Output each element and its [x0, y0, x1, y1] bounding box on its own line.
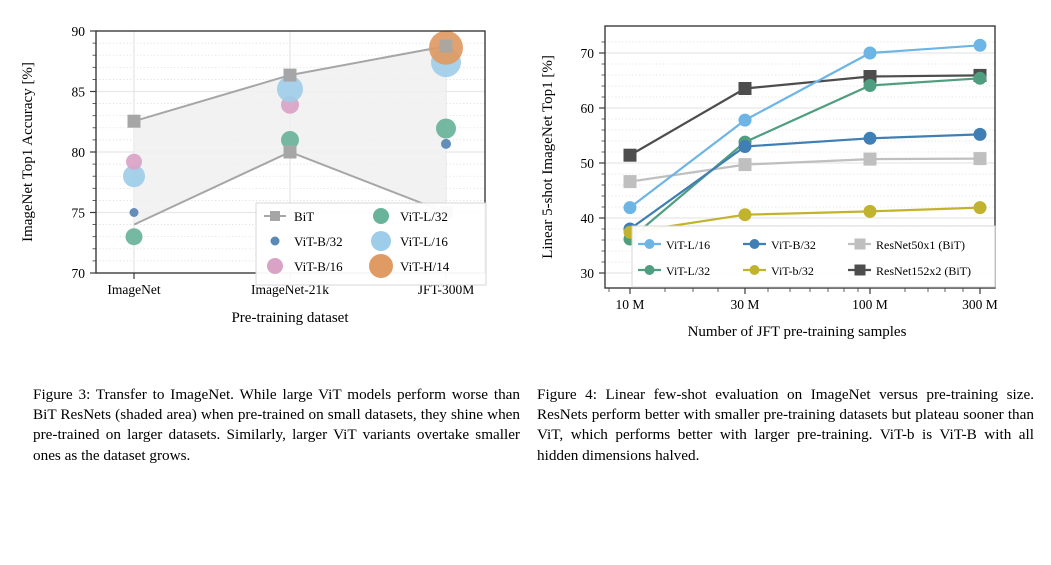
fig4-x-ticks-major: [630, 288, 980, 294]
fig4-x-axis-label: Number of JFT pre-training samples: [688, 324, 907, 340]
fig3-legend-label-vit-l16: ViT-L/16: [400, 234, 448, 249]
fig4-y-axis-label: Linear 5-shot ImageNet Top1 [%]: [540, 55, 556, 259]
fig4-ytick-60: 60: [581, 101, 595, 116]
point-vit-b16-imagenet: [126, 154, 142, 170]
fig3-y-axis-label: ImageNet Top1 Accuracy [%]: [20, 62, 36, 242]
point-bit-lower-in21k: [284, 146, 297, 159]
point-vit-b32-imagenet: [130, 208, 139, 217]
fig3-legend-label-vit-l32: ViT-L/32: [400, 209, 448, 224]
fig4-xtick-10m: 10 M: [616, 297, 645, 312]
fig3-legend-item-vit-l32[interactable]: ViT-L/32: [373, 208, 448, 224]
fig3-ytick-75: 75: [72, 206, 86, 221]
point-bit-upper-in21k: [284, 69, 297, 82]
fig3-legend-box: [256, 203, 486, 285]
fig3-ytick-70: 70: [72, 266, 86, 281]
fig3-legend-label-vit-h14: ViT-H/14: [400, 259, 450, 274]
fig4-legend-label-resnet152x2: ResNet152x2 (BiT): [876, 264, 971, 278]
fig4-legend-label-vit-l32: ViT-L/32: [666, 264, 710, 278]
fig3-legend-item-vit-b16[interactable]: ViT-B/16: [267, 258, 343, 274]
fig4-series: [630, 45, 980, 239]
point-vit-l32-jft: [436, 119, 456, 139]
fig4-legend-label-vit-l16: ViT-L/16: [666, 238, 710, 252]
fig4-ytick-40: 40: [581, 211, 595, 226]
figure-3-caption: Figure 3: Transfer to ImageNet. While la…: [33, 385, 520, 466]
point-bit-upper-jft: [440, 40, 453, 53]
fig3-ytick-80: 80: [72, 145, 86, 160]
fig3-legend-label-bit: BiT: [294, 209, 314, 224]
series-line-vit-b32: [630, 134, 980, 229]
fig4-legend-label-resnet50x1: ResNet50x1 (BiT): [876, 238, 965, 252]
series-line-resnet50x1: [630, 159, 980, 182]
fig4-xtick-100m: 100 M: [852, 297, 888, 312]
fig3-legend: BiT ViT-B/32 ViT-B/16 ViT-L/32 ViT-: [256, 203, 486, 285]
fig3-legend-label-vit-b32: ViT-B/32: [294, 234, 343, 249]
figure-page: 90 85 80 75 70 ImageNet ImageNet-21k JFT…: [0, 0, 1051, 565]
figure-4-panel: 70 60 50 40 30 10 M 30 M: [525, 0, 1051, 350]
fig3-legend-label-vit-b16: ViT-B/16: [294, 259, 343, 274]
point-vit-l32-imagenet: [126, 228, 143, 245]
fig3-xtick-imagenet: ImageNet: [107, 282, 160, 297]
fig3-ytick-85: 85: [72, 85, 86, 100]
point-vit-b32-jft: [441, 139, 451, 149]
figure-3-panel: 90 85 80 75 70 ImageNet ImageNet-21k JFT…: [0, 0, 525, 350]
figure-3-chart: 90 85 80 75 70 ImageNet ImageNet-21k JFT…: [0, 0, 525, 350]
fig4-xtick-300m: 300 M: [962, 297, 998, 312]
fig4-ytick-50: 50: [581, 156, 595, 171]
fig4-ytick-70: 70: [581, 46, 595, 61]
fig4-legend-label-vit-b32: ViT-B/32: [771, 238, 816, 252]
point-bit-imagenet: [128, 115, 141, 128]
figure-4-chart: 70 60 50 40 30 10 M 30 M: [525, 0, 1051, 350]
fig3-ytick-90: 90: [72, 24, 86, 39]
fig4-legend-label-vit-b32-small: ViT-b/32: [771, 264, 814, 278]
series-line-vit-l16: [630, 45, 980, 207]
fig3-x-axis-label: Pre-training dataset: [231, 310, 349, 326]
fig4-ytick-30: 30: [581, 266, 595, 281]
fig4-xtick-30m: 30 M: [731, 297, 760, 312]
figure-4-caption: Figure 4: Linear few-shot evaluation on …: [537, 385, 1034, 466]
fig4-legend: ViT-L/16 ViT-B/32 ResNet50x1 (BiT) ViT-L…: [632, 226, 995, 287]
fig3-legend-item-vit-l16[interactable]: ViT-L/16: [371, 231, 448, 251]
